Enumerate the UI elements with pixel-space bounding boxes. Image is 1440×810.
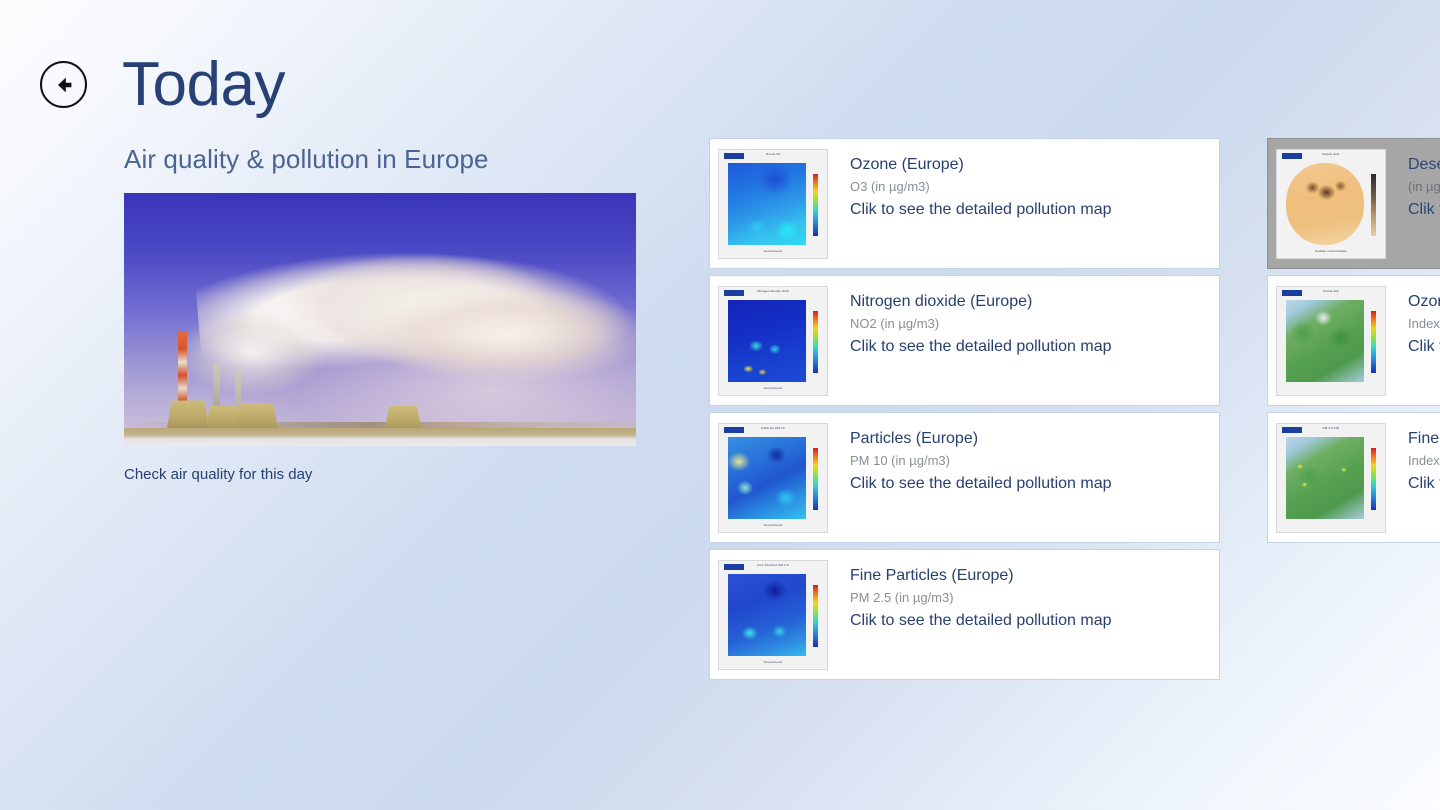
color-ramp-icon xyxy=(813,448,818,510)
pollution-map-thumbnail: Ozone AQI xyxy=(1276,286,1386,396)
thumbnail-map-area xyxy=(1286,163,1364,245)
pollution-card-subtitle: (in µg/m3) xyxy=(1408,178,1440,196)
thumbnail-caption-top: Ozone AQI xyxy=(1283,290,1379,294)
pollution-map-thumbnail: Ozone 03Ground level xyxy=(718,149,828,259)
hero-image-pollution-photo[interactable] xyxy=(124,193,636,446)
pollution-card-body: Nitrogen dioxide (Europe)NO2 (in µg/m3)C… xyxy=(828,276,1219,358)
pollution-card-subtitle: PM 10 (in µg/m3) xyxy=(850,452,1219,470)
color-ramp-icon xyxy=(813,174,818,236)
hero-caption: Check air quality for this day xyxy=(124,465,636,485)
pollution-card[interactable]: PM 2.5 AQIFine Particles (USA)IndexClik … xyxy=(1267,412,1440,543)
thumbnail-color-scale xyxy=(1371,448,1376,510)
thumbnail-color-scale xyxy=(813,311,818,373)
thumbnail-color-scale xyxy=(1371,311,1376,373)
thumbnail-caption-top: Fine Particles PM 2.5 xyxy=(725,564,821,568)
pollution-card-action-text: Clik to see the detailed pollution map xyxy=(1408,336,1440,358)
back-arrow-icon xyxy=(51,72,77,98)
hero-smoke-plume xyxy=(329,269,636,416)
thumbnail-caption-bottom: Ground level xyxy=(725,661,821,665)
thumbnail-color-scale xyxy=(813,174,818,236)
pollution-card[interactable]: Particles PM 10Ground levelParticles (Eu… xyxy=(709,412,1220,543)
pollution-card-title: Particles (Europe) xyxy=(850,428,1219,450)
pollution-card-body: Ozone (USA)IndexClik to see the detailed… xyxy=(1386,276,1440,358)
map-map-us-o3-icon xyxy=(1286,300,1364,382)
hero-ground xyxy=(124,428,636,446)
pollution-card-subtitle: Index xyxy=(1408,315,1440,333)
page-header: Today xyxy=(0,0,1440,135)
map-map-us-pm-icon xyxy=(1286,437,1364,519)
pollution-card[interactable]: Fine Particles PM 2.5Ground levelFine Pa… xyxy=(709,549,1220,680)
thumbnail-color-scale xyxy=(813,448,818,510)
page-title: Today xyxy=(122,48,285,122)
thumbnail-caption-bottom: Surface concentration xyxy=(1283,250,1379,254)
pollution-card-subtitle: NO2 (in µg/m3) xyxy=(850,315,1219,333)
map-map-eu-no2-icon xyxy=(728,300,806,382)
thumbnail-caption-top: Desert dust xyxy=(1283,153,1379,157)
thumbnail-caption-top: Ozone 03 xyxy=(725,153,821,157)
map-map-eu-o3-icon xyxy=(728,163,806,245)
map-map-dust-icon xyxy=(1286,163,1364,245)
pollution-card-action-text: Clik to see the detailed pollution map xyxy=(850,610,1219,632)
cards-column-europe: Ozone 03Ground levelOzone (Europe)O3 (in… xyxy=(709,138,1220,686)
pollution-card-body: Ozone (Europe)O3 (in µg/m3)Clik to see t… xyxy=(828,139,1219,221)
thumbnail-map-area xyxy=(728,574,806,656)
pollution-card[interactable]: Nitrogen dioxide NO2Ground levelNitrogen… xyxy=(709,275,1220,406)
hero-heading: Air quality & pollution in Europe xyxy=(124,143,636,175)
pollution-card-title: Ozone (Europe) xyxy=(850,154,1219,176)
thumbnail-caption-top: Nitrogen dioxide NO2 xyxy=(725,290,821,294)
pollution-map-thumbnail: PM 2.5 AQI xyxy=(1276,423,1386,533)
thumbnail-caption-bottom: Ground level xyxy=(725,524,821,528)
thumbnail-map-area xyxy=(1286,437,1364,519)
color-ramp-icon xyxy=(1371,448,1376,510)
hero-column: Air quality & pollution in Europe Check … xyxy=(124,143,636,485)
pollution-card[interactable]: Ozone AQIOzone (USA)IndexClik to see the… xyxy=(1267,275,1440,406)
map-map-eu-pm10-icon xyxy=(728,437,806,519)
pollution-card-action-text: Clik to see the detailed pollution map xyxy=(850,473,1219,495)
pollution-card-title: Fine Particles (Europe) xyxy=(850,565,1219,587)
thumbnail-map-area xyxy=(728,437,806,519)
pollution-card-title: Nitrogen dioxide (Europe) xyxy=(850,291,1219,313)
pollution-card-title: Ozone (USA) xyxy=(1408,291,1440,313)
thumbnail-caption-top: PM 2.5 AQI xyxy=(1283,427,1379,431)
thumbnail-map-area xyxy=(1286,300,1364,382)
pollution-card-subtitle: O3 (in µg/m3) xyxy=(850,178,1219,196)
pollution-map-thumbnail: Particles PM 10Ground level xyxy=(718,423,828,533)
pollution-card-body: Fine Particles (USA)IndexClik to see the… xyxy=(1386,413,1440,495)
pollution-map-thumbnail: Nitrogen dioxide NO2Ground level xyxy=(718,286,828,396)
pollution-map-thumbnail: Fine Particles PM 2.5Ground level xyxy=(718,560,828,670)
pollution-card-action-text: Clik to see the detailed pollution map xyxy=(1408,199,1440,221)
pollution-card-subtitle: Index xyxy=(1408,452,1440,470)
cards-column-world: Desert dustSurface concentrationDesert d… xyxy=(1267,138,1440,549)
pollution-card-action-text: Clik to see the detailed pollution map xyxy=(850,199,1219,221)
pollution-card[interactable]: Ozone 03Ground levelOzone (Europe)O3 (in… xyxy=(709,138,1220,269)
pollution-card-action-text: Clik to see the detailed pollution map xyxy=(1408,473,1440,495)
thumbnail-caption-bottom: Ground level xyxy=(725,387,821,391)
pollution-card-subtitle: PM 2.5 (in µg/m3) xyxy=(850,589,1219,607)
thumbnail-map-area xyxy=(728,163,806,245)
color-ramp-icon xyxy=(1371,174,1376,236)
thumbnail-map-area xyxy=(728,300,806,382)
pollution-card-body: Fine Particles (Europe)PM 2.5 (in µg/m3)… xyxy=(828,550,1219,632)
thumbnail-color-scale xyxy=(813,585,818,647)
color-ramp-icon xyxy=(1371,311,1376,373)
pollution-card[interactable]: Desert dustSurface concentrationDesert d… xyxy=(1267,138,1440,269)
pollution-card-title: Desert dust (World) xyxy=(1408,154,1440,176)
back-button[interactable] xyxy=(40,61,87,108)
map-map-eu-pm25-icon xyxy=(728,574,806,656)
thumbnail-color-scale xyxy=(1371,174,1376,236)
pollution-card-body: Particles (Europe)PM 10 (in µg/m3)Clik t… xyxy=(828,413,1219,495)
pollution-map-thumbnail: Desert dustSurface concentration xyxy=(1276,149,1386,259)
pollution-card-body: Desert dust (World)(in µg/m3)Clik to see… xyxy=(1386,139,1440,221)
color-ramp-icon xyxy=(813,311,818,373)
pollution-card-title: Fine Particles (USA) xyxy=(1408,428,1440,450)
thumbnail-caption-top: Particles PM 10 xyxy=(725,427,821,431)
thumbnail-caption-bottom: Ground level xyxy=(725,250,821,254)
pollution-card-action-text: Clik to see the detailed pollution map xyxy=(850,336,1219,358)
color-ramp-icon xyxy=(813,585,818,647)
